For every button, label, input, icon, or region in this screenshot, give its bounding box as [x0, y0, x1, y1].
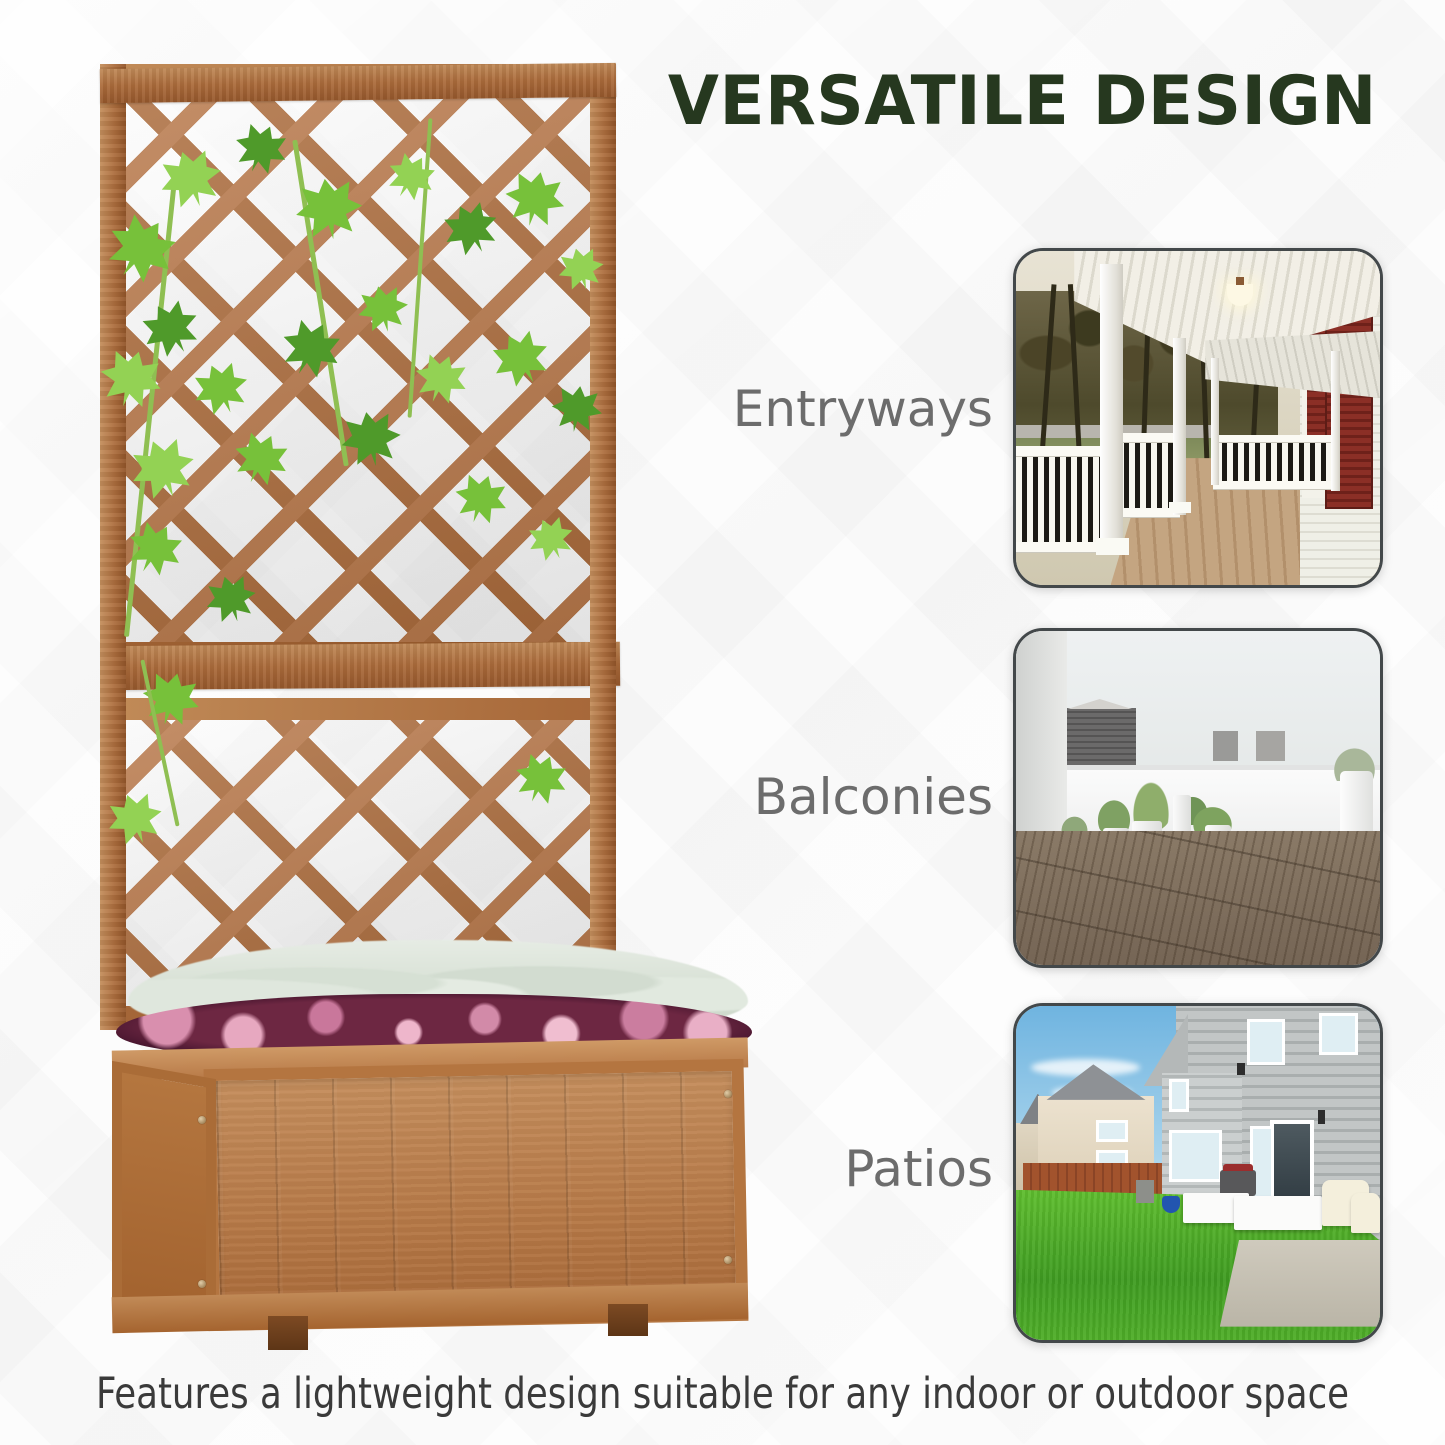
house-lower-window	[1169, 1130, 1222, 1183]
top-trellis-rail	[100, 63, 616, 103]
porch-column	[1331, 351, 1340, 491]
balcony-wood-deck-tiles	[1016, 831, 1380, 965]
planter-screw	[724, 1090, 732, 1098]
porch-photo	[1016, 251, 1380, 585]
photo-card-patios[interactable]	[1013, 1003, 1383, 1343]
patio-chair	[1351, 1193, 1380, 1233]
photo-card-entryways[interactable]	[1013, 248, 1383, 588]
balcony-planter-pot	[1173, 795, 1191, 835]
blue-planter-pot	[1162, 1196, 1180, 1213]
bottom-caption: Features a lightweight design suitable f…	[58, 1369, 1387, 1419]
planter-box-side	[112, 1061, 216, 1329]
house-upper-window	[1319, 1013, 1358, 1056]
house-upper-window	[1247, 1019, 1286, 1065]
porch-railing-bottom	[1213, 481, 1337, 488]
porch-column	[1173, 338, 1186, 515]
category-label-patios: Patios	[844, 1140, 993, 1198]
right-trellis-post	[590, 64, 616, 1030]
porch-column-base	[1169, 502, 1191, 514]
planter-leg-left	[268, 1316, 308, 1350]
planter-screw	[724, 1256, 732, 1264]
balcony-photo	[1016, 631, 1380, 965]
porch-column	[1100, 264, 1124, 551]
porch-balusters	[1216, 438, 1336, 485]
porch-railing-top	[1118, 433, 1180, 442]
porch-balusters	[1016, 451, 1111, 545]
page-title: VERSATILE DESIGN	[668, 62, 1377, 141]
planter-leg-right	[608, 1304, 648, 1336]
category-label-entryways: Entryways	[733, 380, 993, 438]
neighbor-window	[1096, 1120, 1127, 1143]
planter-screw	[198, 1116, 206, 1124]
porch-railing-top	[1213, 435, 1337, 442]
ac-unit	[1136, 1180, 1154, 1203]
product-image	[88, 58, 748, 1328]
exterior-wall-vent	[1237, 1063, 1245, 1075]
left-trellis-post	[100, 64, 126, 1030]
patio-bench	[1234, 1196, 1321, 1229]
concrete-patio-slab	[1220, 1240, 1380, 1327]
exterior-wall-lamp	[1318, 1110, 1325, 1124]
category-label-balconies: Balconies	[754, 768, 993, 826]
porch-balusters	[1118, 438, 1180, 511]
porch-column	[1211, 358, 1220, 485]
porch-railing-top	[1016, 446, 1111, 456]
patio-photo	[1016, 1006, 1380, 1340]
planter-screw	[198, 1280, 206, 1288]
marketing-image: VERSATILE DESIGN	[0, 0, 1445, 1445]
balcony-wall-pillar	[1016, 631, 1067, 851]
porch-column-base	[1096, 538, 1129, 555]
photo-card-balconies[interactable]	[1013, 628, 1383, 968]
house-upper-window	[1169, 1079, 1190, 1112]
